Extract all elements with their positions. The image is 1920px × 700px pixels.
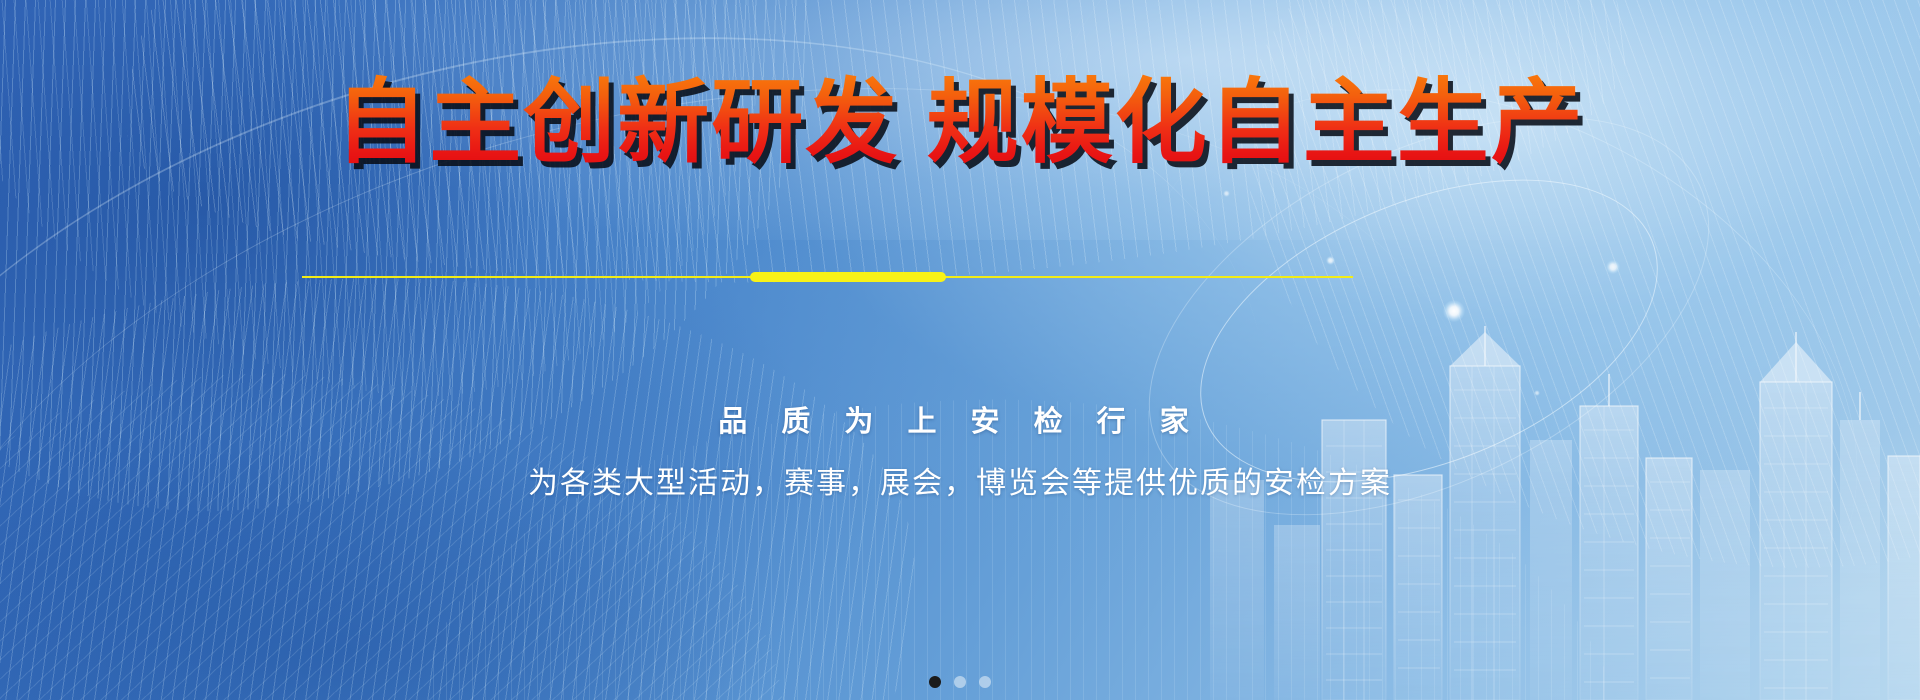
banner-subtitle-primary: 品 质 为 上 安 检 行 家 xyxy=(0,398,1920,440)
hero-banner: 自主创新研发 规模化自主生产 品 质 为 上 安 检 行 家 为各类大型活动，赛… xyxy=(0,0,1920,700)
banner-content: 自主创新研发 规模化自主生产 品 质 为 上 安 检 行 家 为各类大型活动，赛… xyxy=(0,0,1920,700)
headline-divider xyxy=(302,276,1353,278)
carousel-dot-2[interactable] xyxy=(954,676,966,688)
banner-headline: 自主创新研发 规模化自主生产 xyxy=(0,72,1920,175)
carousel-dot-3[interactable] xyxy=(979,676,991,688)
carousel-dot-1[interactable] xyxy=(929,676,941,688)
divider-accent-bar xyxy=(750,272,946,282)
banner-subtitle-secondary: 为各类大型活动，赛事，展会，博览会等提供优质的安检方案 xyxy=(0,458,1920,502)
carousel-dots xyxy=(0,676,1920,688)
